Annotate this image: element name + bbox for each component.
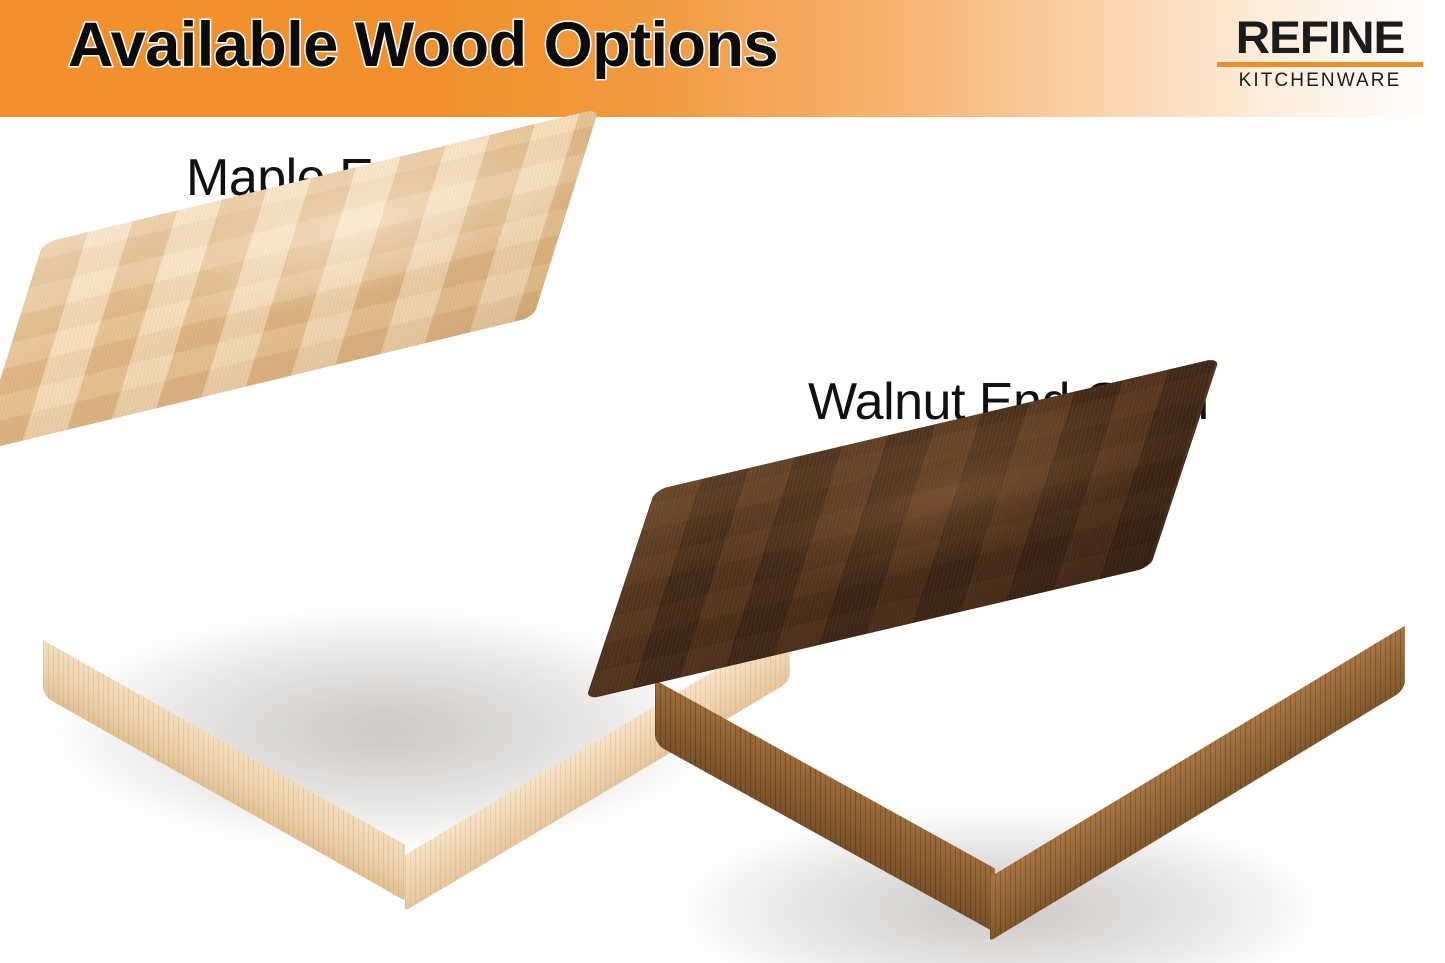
infographic-canvas: Available Wood Options REFINE KITCHENWAR… bbox=[0, 0, 1445, 963]
page-title: Available Wood Options bbox=[68, 14, 778, 77]
brand-logo: REFINE KITCHENWARE bbox=[1217, 16, 1423, 90]
logo-subtitle: KITCHENWARE bbox=[1217, 71, 1423, 90]
header-banner: Available Wood Options REFINE KITCHENWAR… bbox=[0, 0, 1445, 117]
cutting-board-walnut bbox=[610, 440, 1445, 963]
logo-brand-name: REFINE bbox=[1211, 16, 1429, 59]
